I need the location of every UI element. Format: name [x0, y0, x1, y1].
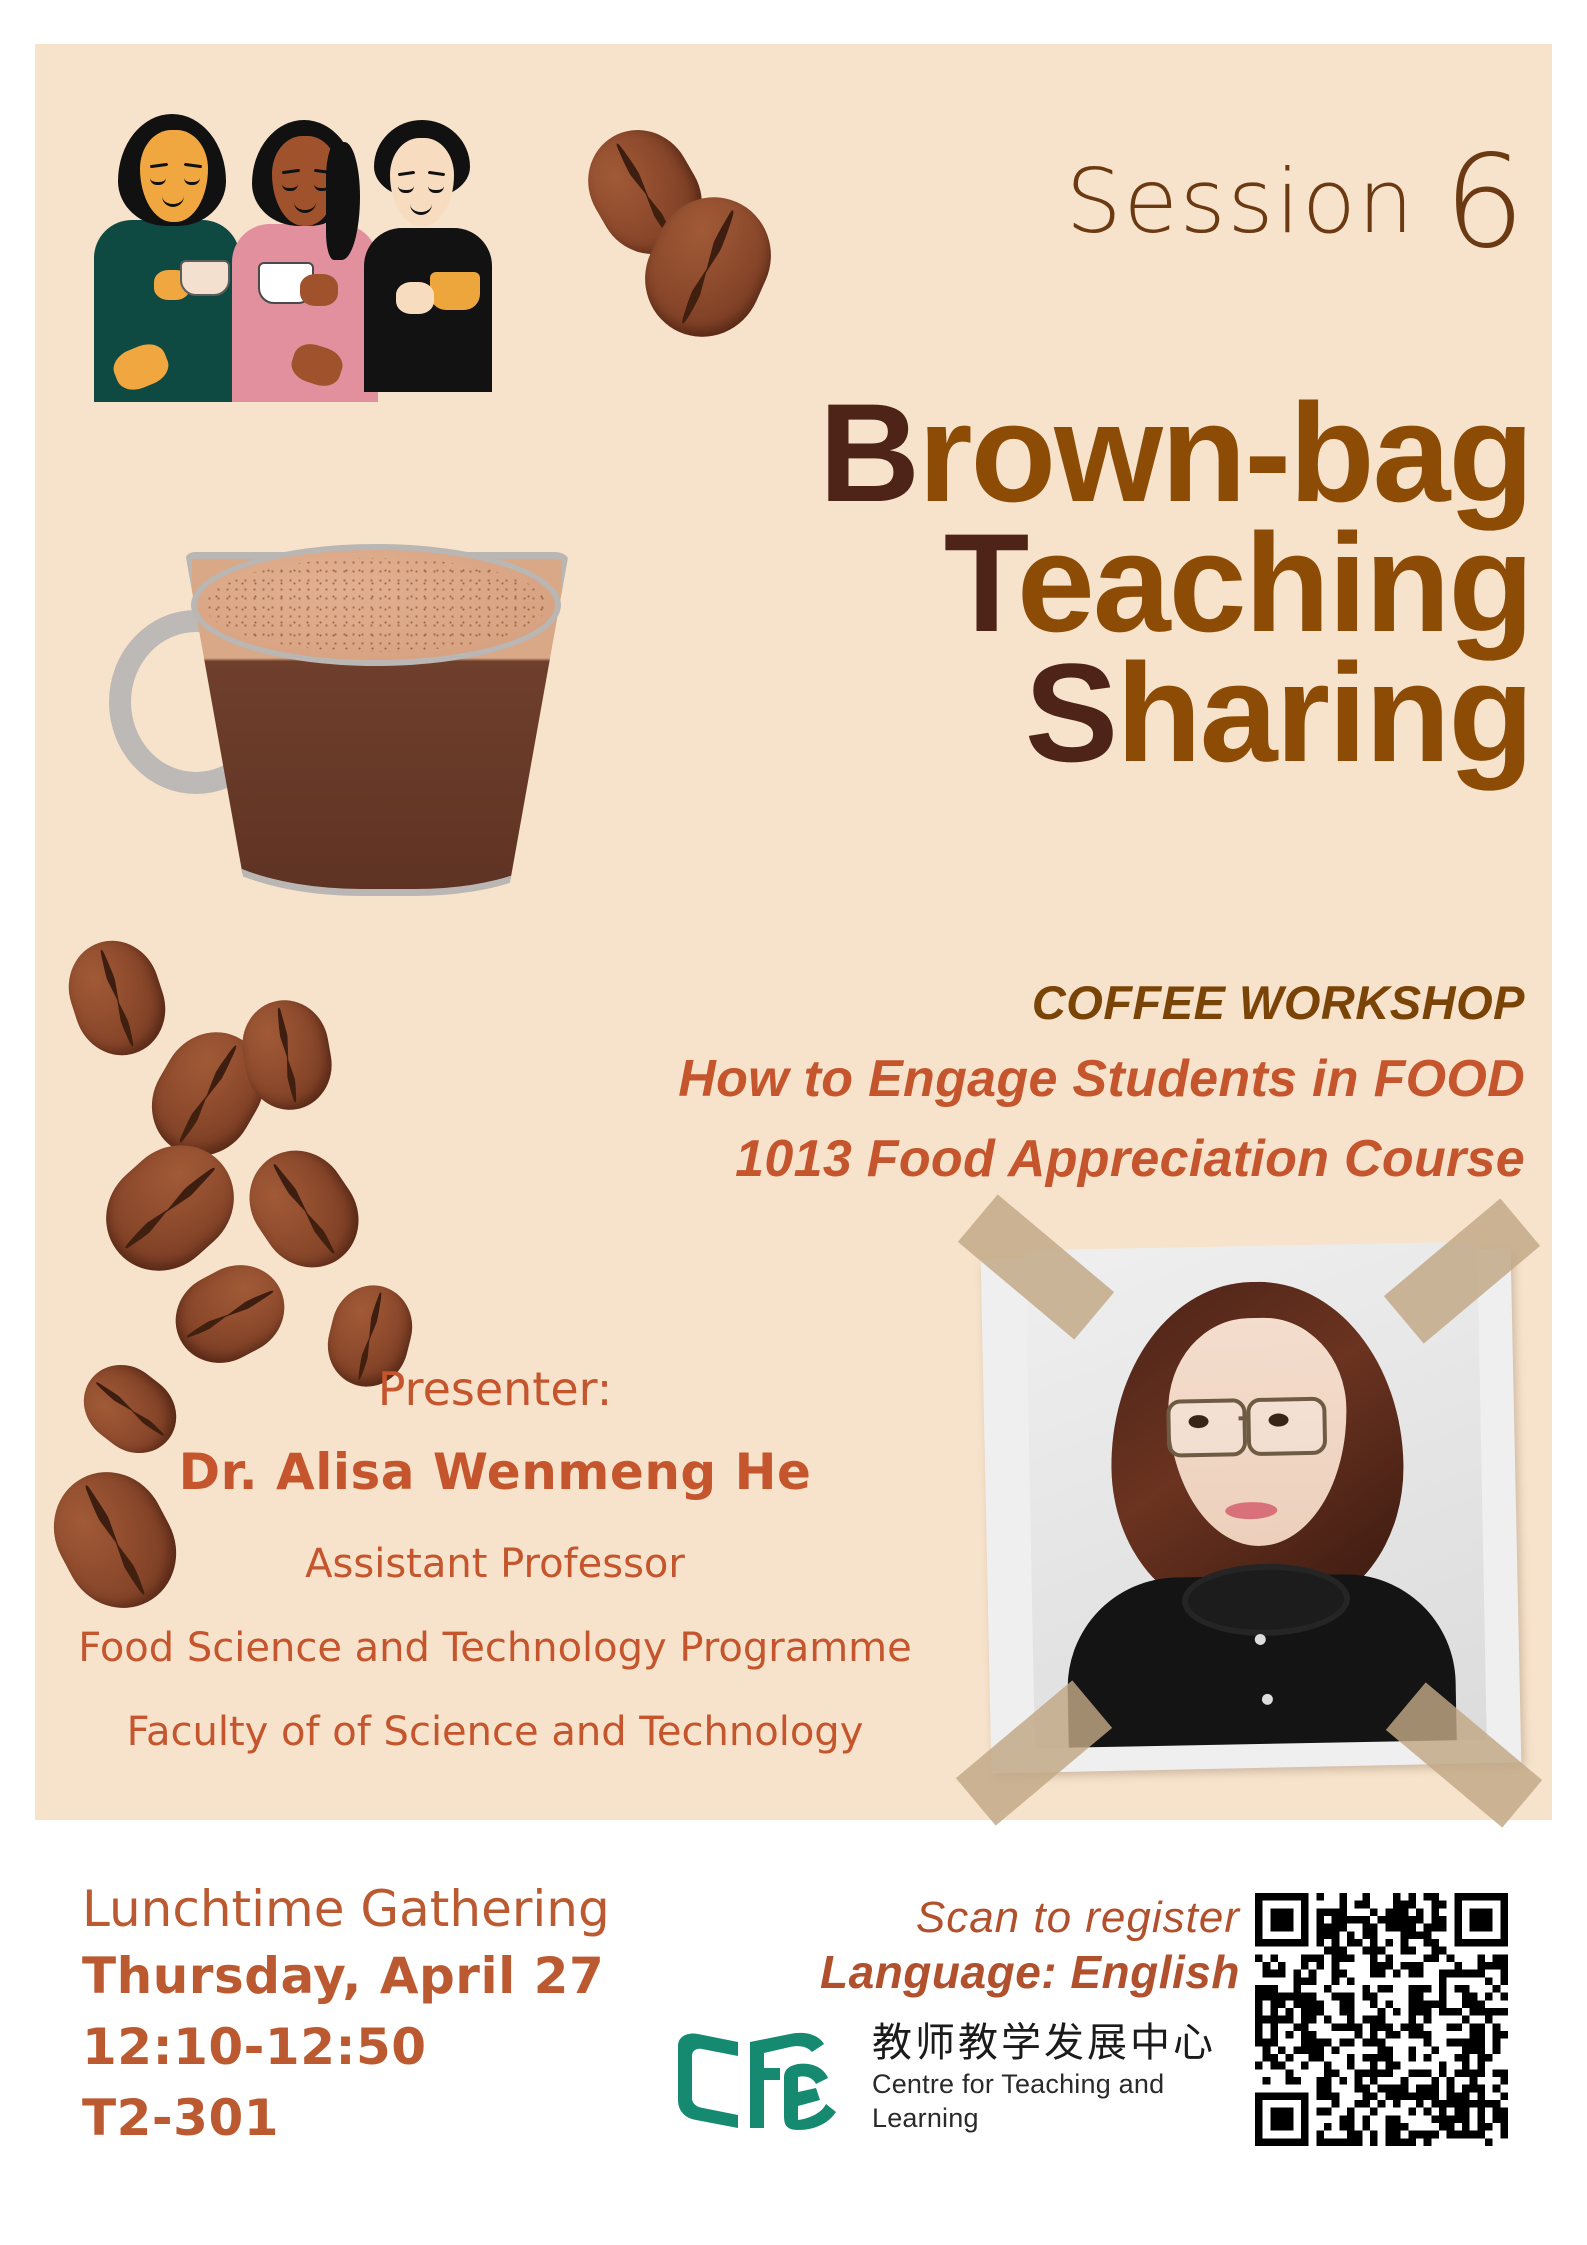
presenter-role: Assistant Professor — [40, 1522, 950, 1606]
event-details-block: Lunchtime Gathering Thursday, April 27 1… — [82, 1878, 610, 2154]
topic-line-2: 1013 Food Appreciation Course — [678, 1119, 1525, 1200]
workshop-label: COFFEE WORKSHOP — [678, 968, 1525, 1039]
org-name-cn: 教师教学发展中心 — [872, 2018, 1272, 2068]
org-name-en: Centre for Teaching and Learning — [872, 2068, 1272, 2136]
workshop-subtitle-block: COFFEE WORKSHOP How to Engage Students i… — [678, 968, 1525, 1200]
page-title: Brown-bag Teaching Sharing — [819, 388, 1532, 779]
qr-code[interactable] — [1255, 1893, 1508, 2146]
presenter-label: Presenter: — [40, 1355, 950, 1424]
session-number: 6 — [1444, 128, 1527, 277]
session-label: Session — [1066, 150, 1416, 253]
ctl-open-book-logo-icon — [672, 2022, 842, 2132]
portrait-glasses-right — [1246, 1397, 1327, 1457]
event-date: Thursday, April 27 — [82, 1941, 610, 2012]
presenter-programme: Food Science and Technology Programme — [40, 1606, 950, 1690]
language-label: Language: English — [790, 1945, 1240, 2000]
cup-foam — [191, 544, 561, 666]
presenter-name: Dr. Alisa Wenmeng He — [40, 1424, 950, 1522]
coffee-cup-illustration — [95, 540, 565, 910]
presenter-faculty: Faculty of of Science and Technology — [40, 1690, 950, 1774]
ctl-name-text: 教师教学发展中心 Centre for Teaching and Learnin… — [872, 2018, 1272, 2136]
scan-to-register-label: Scan to register — [790, 1890, 1240, 1945]
title-line-2: Teaching — [819, 518, 1532, 648]
topic-line-1: How to Engage Students in FOOD — [678, 1039, 1525, 1120]
title-line-1: Brown-bag — [819, 388, 1532, 518]
register-block: Scan to register Language: English — [790, 1890, 1240, 2000]
event-gathering: Lunchtime Gathering — [82, 1878, 610, 1941]
presenter-photo — [960, 1230, 1540, 1790]
presenter-block: Presenter: Dr. Alisa Wenmeng He Assistan… — [40, 1355, 950, 1774]
portrait-glasses-left — [1166, 1398, 1247, 1458]
qr-code-canvas[interactable] — [1255, 1893, 1508, 2146]
portrait-glasses-bridge — [1238, 1416, 1248, 1420]
session-heading: Session6 — [1066, 128, 1527, 277]
ctl-logo-block: 教师教学发展中心 Centre for Teaching and Learnin… — [672, 2018, 1272, 2138]
event-venue: T2-301 — [82, 2083, 610, 2154]
three-people-drinking-coffee-illustration — [92, 102, 492, 402]
title-line-3: Sharing — [819, 648, 1532, 778]
event-time: 12:10-12:50 — [82, 2012, 610, 2083]
